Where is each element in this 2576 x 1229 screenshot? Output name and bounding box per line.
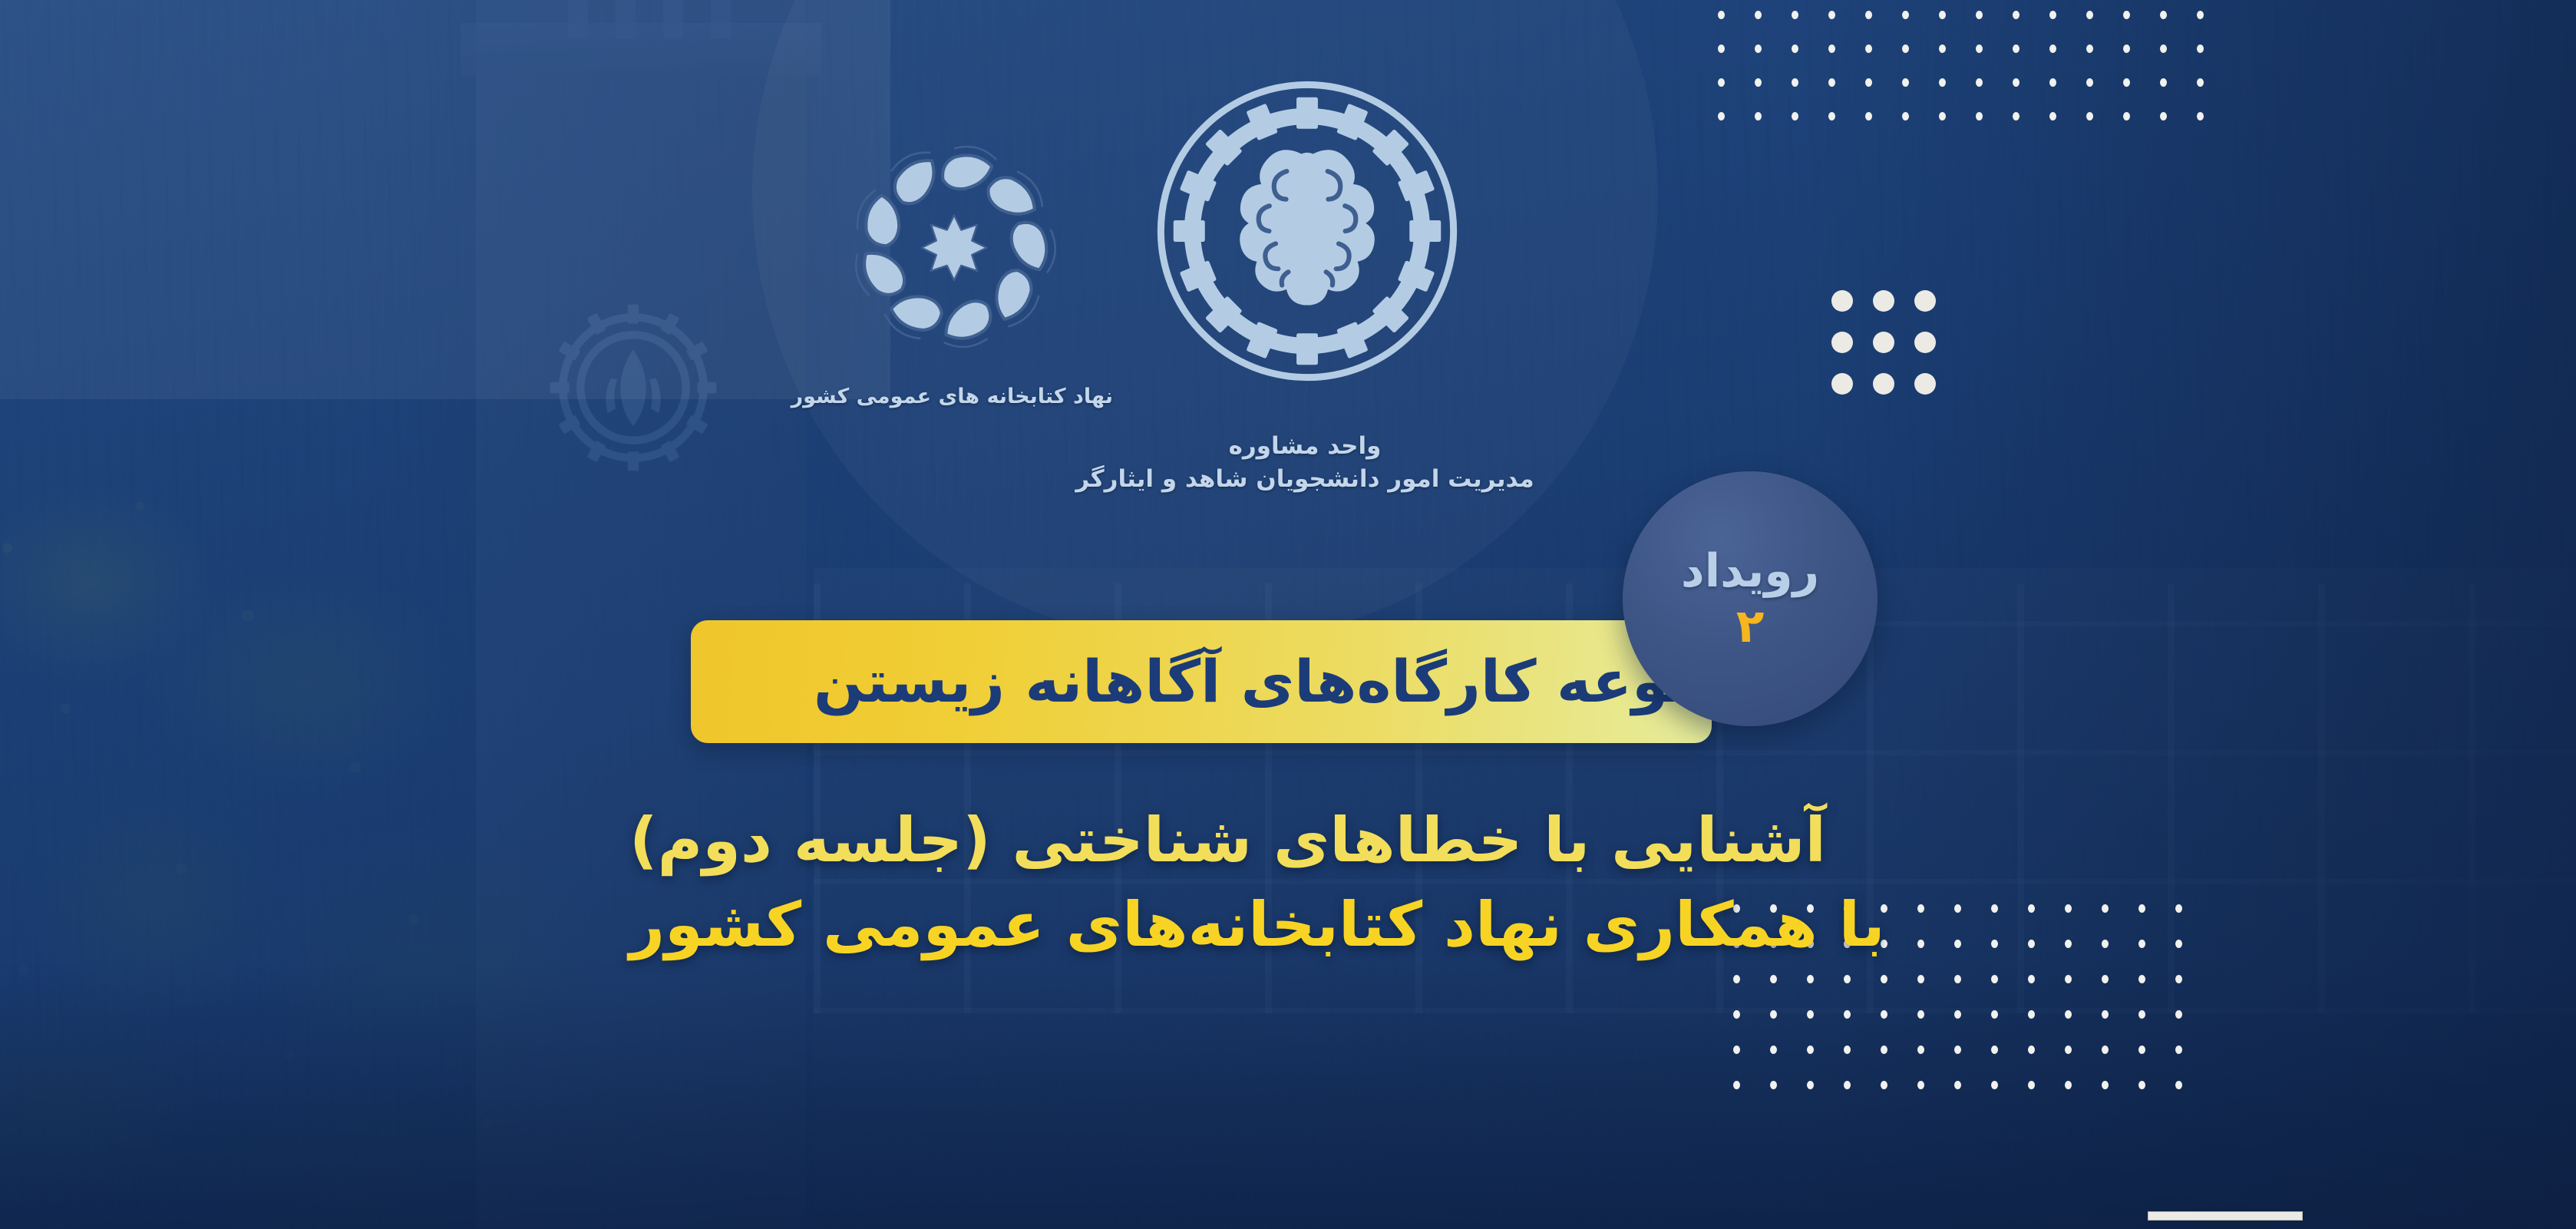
decor-dot <box>2065 940 2072 948</box>
decor-dot <box>2138 975 2145 983</box>
decor-dot <box>1807 1010 1814 1019</box>
decor-dot <box>1792 78 1798 87</box>
decor-dot <box>2049 78 2056 87</box>
decor-dot <box>1865 112 1872 121</box>
decor-dot <box>1873 332 1894 353</box>
decor-dot <box>1792 11 1798 19</box>
decor-dot <box>1881 975 1887 983</box>
decor-dot <box>2013 112 2020 121</box>
decor-dot <box>1865 78 1872 87</box>
event-number-badge: رویداد ۲ <box>1623 471 1878 726</box>
decor-dot <box>2160 11 2167 19</box>
decor-dot <box>1831 373 1853 395</box>
decor-dot <box>1770 1010 1777 1019</box>
public-libraries-logo-icon <box>843 135 1065 358</box>
counseling-caption-line-1: واحد مشاوره <box>1075 430 1535 463</box>
decor-dot <box>2175 1046 2182 1054</box>
headline-line-1: آشنایی با خطاهای شناختی (جلسه دوم) <box>629 798 1965 883</box>
decor-dot <box>2013 45 2020 53</box>
decor-dot <box>2123 112 2130 121</box>
decor-dot <box>1954 1010 1961 1019</box>
decor-dot <box>2197 112 2204 121</box>
decor-dot <box>1902 78 1909 87</box>
event-badge-number: ۲ <box>1736 603 1765 649</box>
decor-dot <box>2138 1081 2145 1089</box>
event-poster: نهاد کتابخانه های عمومی کشور <box>0 0 2576 1229</box>
decor-dot <box>1954 975 1961 983</box>
decor-dot <box>2138 1046 2145 1054</box>
decor-dot <box>1991 940 1998 948</box>
decor-dot <box>1976 45 1983 53</box>
decor-dot <box>1831 290 1853 312</box>
decor-dot <box>1755 112 1762 121</box>
decor-dot <box>2175 940 2182 948</box>
decor-dot <box>2049 11 2056 19</box>
decor-dot <box>2028 975 2035 983</box>
decor-dot <box>1770 1046 1777 1054</box>
decor-dot <box>1865 45 1872 53</box>
decor-dot <box>1718 11 1725 19</box>
decor-dot <box>2028 1081 2035 1089</box>
decor-dot <box>2049 112 2056 121</box>
decor-dot <box>1844 1010 1851 1019</box>
decor-dot <box>1844 1081 1851 1089</box>
headline-line-2: با همکاری نهاد کتابخانه‌های عمومی کشور <box>629 883 1965 967</box>
decor-dot <box>1991 975 1998 983</box>
decor-dot <box>2028 904 2035 913</box>
decor-dot <box>1954 1081 1961 1089</box>
decor-dot <box>1991 1010 1998 1019</box>
decor-dot <box>1991 904 1998 913</box>
decor-dot <box>1917 1010 1924 1019</box>
decor-dot <box>2028 1010 2035 1019</box>
decor-dot <box>1954 1046 1961 1054</box>
decor-dot <box>1807 1046 1814 1054</box>
decor-dot <box>1914 332 1936 353</box>
decor-dot <box>2102 1081 2109 1089</box>
decor-dot <box>2086 45 2093 53</box>
decor-dot <box>1939 45 1946 53</box>
decor-dot <box>1792 45 1798 53</box>
decor-dot <box>2013 78 2020 87</box>
decor-dot <box>1828 45 1835 53</box>
decor-dot <box>1755 45 1762 53</box>
decor-dot <box>2049 45 2056 53</box>
decor-dot <box>1991 1046 1998 1054</box>
decor-dot <box>1718 78 1725 87</box>
decor-dot <box>2160 45 2167 53</box>
bottom-marker-bar <box>2148 1211 2303 1221</box>
counseling-caption-line-2: مدیریت امور دانشجویان شاهد و ایثارگر <box>1075 463 1535 496</box>
counseling-unit-caption: واحد مشاوره مدیریت امور دانشجویان شاهد و… <box>1075 430 1535 496</box>
decor-dot <box>1828 78 1835 87</box>
decor-dot <box>1770 1081 1777 1089</box>
decor-dot <box>2102 1046 2109 1054</box>
decor-dot <box>2102 940 2109 948</box>
decor-dot <box>1733 1046 1740 1054</box>
decor-dot <box>1939 78 1946 87</box>
decor-dot <box>1917 1081 1924 1089</box>
decor-dot <box>2102 904 2109 913</box>
decor-dot <box>1807 1081 1814 1089</box>
decor-dot <box>1733 1010 1740 1019</box>
decor-dot <box>1917 975 1924 983</box>
decor-dot <box>1792 112 1798 121</box>
decor-dot <box>1881 1046 1887 1054</box>
decor-dot <box>2175 1081 2182 1089</box>
decor-dot <box>1831 332 1853 353</box>
decor-dot <box>2013 11 2020 19</box>
decor-dot <box>1939 11 1946 19</box>
decor-dot <box>1976 78 1983 87</box>
decor-dot <box>2197 45 2204 53</box>
decor-dot <box>1755 11 1762 19</box>
decor-dot <box>1917 1046 1924 1054</box>
decor-dot <box>1844 975 1851 983</box>
decor-dot <box>2065 904 2072 913</box>
decor-dot <box>2160 78 2167 87</box>
decor-dot <box>1718 112 1725 121</box>
decor-dot <box>1881 1010 1887 1019</box>
decor-dot <box>2123 45 2130 53</box>
decor-dot <box>1807 975 1814 983</box>
library-logo-caption: نهاد کتابخانه های عمومی کشور <box>806 382 1113 411</box>
decor-dot <box>1976 11 1983 19</box>
decor-dot <box>1914 290 1936 312</box>
decor-dot <box>1828 112 1835 121</box>
event-badge-label: رویداد <box>1681 548 1819 594</box>
decor-dot <box>2028 940 2035 948</box>
decor-dot <box>1733 975 1740 983</box>
decor-dot <box>1770 975 1777 983</box>
decor-dot <box>1755 78 1762 87</box>
decor-dot <box>1914 373 1936 395</box>
decor-dot <box>1902 45 1909 53</box>
decor-dot <box>2065 1081 2072 1089</box>
decor-dot <box>1902 11 1909 19</box>
brain-in-gear-logo-icon <box>1150 74 1465 388</box>
decor-dot <box>2197 11 2204 19</box>
decor-dot <box>2175 975 2182 983</box>
workshop-series-title-bar: مجموعه کارگاه‌های آگاهانه زیستن <box>691 620 1712 743</box>
decor-dot <box>2138 940 2145 948</box>
decor-dot <box>2138 904 2145 913</box>
decor-dot <box>1976 112 1983 121</box>
decor-dot <box>2175 1010 2182 1019</box>
decor-dot <box>2197 78 2204 87</box>
decor-dot <box>1873 373 1894 395</box>
decor-dot <box>2102 975 2109 983</box>
decor-dot <box>2028 1046 2035 1054</box>
decor-dot <box>2160 112 2167 121</box>
decor-dot <box>2175 904 2182 913</box>
decor-dot <box>1828 11 1835 19</box>
workshop-series-title: مجموعه کارگاه‌های آگاهانه زیستن <box>814 652 1712 711</box>
decor-dot <box>2086 11 2093 19</box>
decor-dot <box>2123 78 2130 87</box>
decor-dot <box>2102 1010 2109 1019</box>
decor-dot <box>2065 1010 2072 1019</box>
decor-dot <box>1873 290 1894 312</box>
decor-dot <box>1991 1081 1998 1089</box>
decor-dot <box>1718 45 1725 53</box>
decor-dot <box>1865 11 1872 19</box>
decor-dot <box>2065 1046 2072 1054</box>
decor-dot <box>2065 975 2072 983</box>
decor-dot <box>1939 112 1946 121</box>
decor-dot <box>2123 11 2130 19</box>
decor-dot <box>1902 112 1909 121</box>
decor-dot <box>2086 112 2093 121</box>
decor-dot <box>2138 1010 2145 1019</box>
decor-dot <box>2086 78 2093 87</box>
decor-dot <box>1844 1046 1851 1054</box>
decor-dot <box>1881 1081 1887 1089</box>
event-headline: آشنایی با خطاهای شناختی (جلسه دوم) با هم… <box>629 798 1965 968</box>
decor-dot <box>1733 1081 1740 1089</box>
